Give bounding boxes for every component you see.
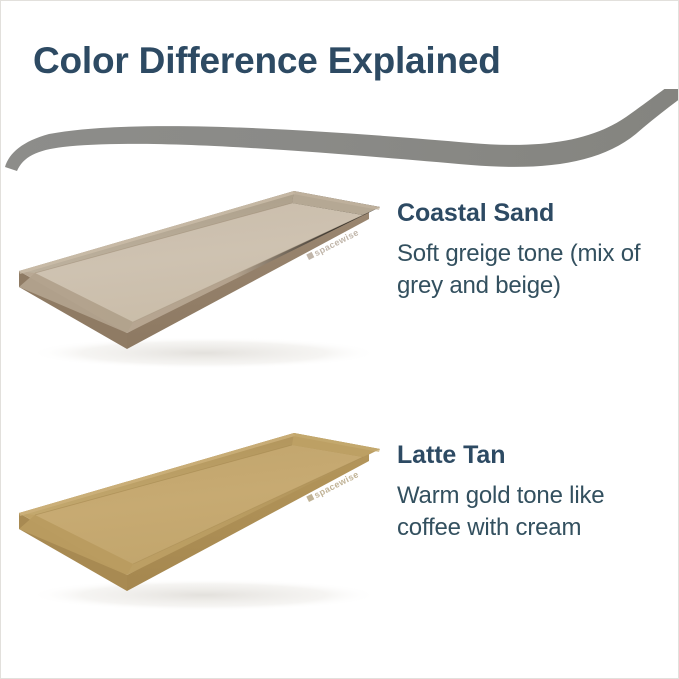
swatch-text-coastal-sand: Coastal Sand Soft greige tone (mix of gr… bbox=[397, 199, 659, 302]
swatch-row-latte-tan: spacewise Latte Tan Warm gold tone like … bbox=[1, 423, 679, 673]
page-title: Color Difference Explained bbox=[33, 41, 633, 82]
tray-illustration-latte-tan: spacewise bbox=[9, 423, 389, 623]
tray-svg-latte-tan: spacewise bbox=[9, 423, 389, 623]
infographic-canvas: Color Difference Explained bbox=[0, 0, 679, 679]
swatch-name-latte-tan: Latte Tan bbox=[397, 441, 659, 470]
tray-illustration-coastal-sand: spacewise bbox=[9, 181, 389, 381]
swatch-name-coastal-sand: Coastal Sand bbox=[397, 199, 659, 228]
swatch-row-coastal-sand: spacewise Coastal Sand Soft greige tone … bbox=[1, 181, 679, 431]
swatch-description-coastal-sand: Soft greige tone (mix of grey and beige) bbox=[397, 238, 659, 302]
gray-swoosh-divider bbox=[1, 89, 679, 181]
swatch-description-latte-tan: Warm gold tone like coffee with cream bbox=[397, 480, 659, 544]
tray-svg-coastal-sand: spacewise bbox=[9, 181, 389, 381]
swatch-text-latte-tan: Latte Tan Warm gold tone like coffee wit… bbox=[397, 441, 659, 544]
